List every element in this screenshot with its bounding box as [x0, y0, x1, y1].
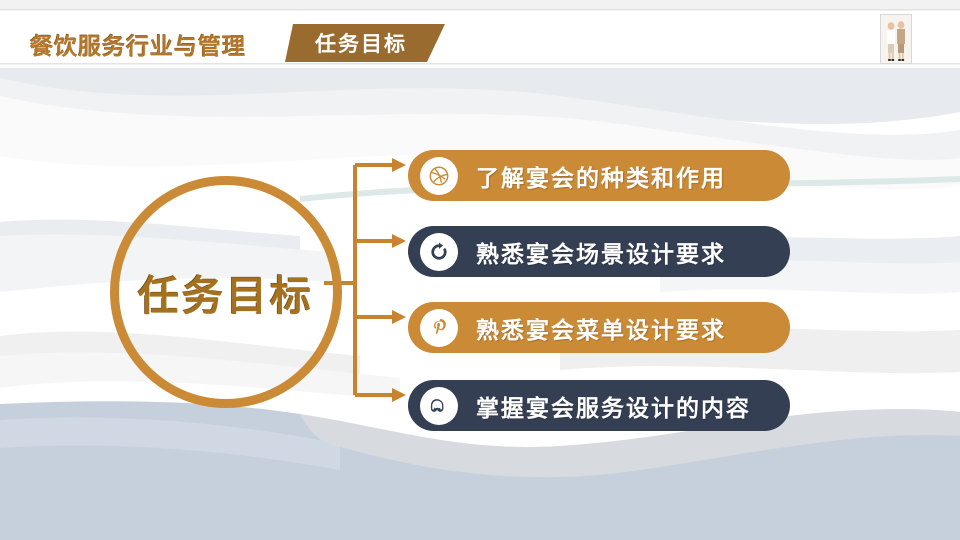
objective-text-4: 掌握宴会服务设计的内容	[476, 389, 751, 423]
objective-pill-3[interactable]: 熟悉宴会菜单设计要求	[408, 302, 790, 353]
dribbble-icon	[420, 157, 458, 195]
arrowhead-4	[392, 388, 406, 402]
refresh-icon	[420, 233, 458, 271]
central-node-label: 任务目标	[138, 262, 314, 322]
waitstaff-photo	[880, 14, 912, 64]
objective-text-3: 熟悉宴会菜单设计要求	[476, 311, 726, 345]
objective-pill-2[interactable]: 熟悉宴会场景设计要求	[408, 226, 790, 277]
tab-task-objective[interactable]: 任务目标	[285, 24, 445, 62]
objective-pill-4[interactable]: 掌握宴会服务设计的内容	[408, 380, 790, 431]
objective-pill-1[interactable]: 了解宴会的种类和作用	[408, 150, 790, 201]
stumbleupon-icon	[420, 387, 458, 425]
slide-canvas: 餐饮服务行业与管理 任务目标 任务目标	[0, 0, 960, 540]
objective-text-1: 了解宴会的种类和作用	[476, 159, 726, 193]
arrowhead-3	[392, 310, 406, 324]
arrowhead-1	[392, 158, 406, 172]
arrowhead-2	[392, 234, 406, 248]
tab-label: 任务目标	[285, 24, 445, 62]
pinterest-icon	[420, 309, 458, 347]
objective-text-2: 熟悉宴会场景设计要求	[476, 235, 726, 269]
central-node: 任务目标	[110, 176, 342, 408]
page-title: 餐饮服务行业与管理	[30, 27, 246, 61]
